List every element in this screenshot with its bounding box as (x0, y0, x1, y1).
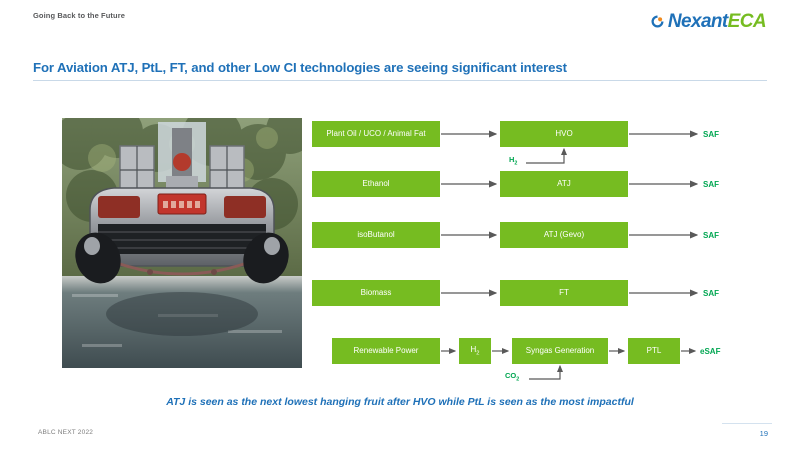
footer-event-label: ABLC NEXT 2022 (38, 429, 93, 436)
feedlabel-h2-hvo: H2 (509, 155, 517, 167)
node-process-hvo[interactable]: HVO (500, 121, 628, 147)
endlabel-esaf-ptl: eSAF (700, 347, 720, 356)
slide: Going Back to the Future NexantECA For A… (0, 0, 800, 450)
node-process-ptl[interactable]: PTL (628, 338, 680, 364)
endlabel-saf-atj-gevo: SAF (703, 231, 719, 240)
endlabel-saf-atj: SAF (703, 180, 719, 189)
footer-divider (722, 423, 772, 424)
node-feedstock-biomass[interactable]: Biomass (312, 280, 440, 306)
feedlabel-co2-text: CO (505, 371, 516, 380)
page-number: 19 (760, 429, 768, 438)
process-flow-diagram: Plant Oil / UCO / Animal Fat HVO SAF H2 … (0, 0, 800, 450)
node-process-syngas-generation[interactable]: Syngas Generation (512, 338, 608, 364)
node-process-atj[interactable]: ATJ (500, 171, 628, 197)
node-feedstock-hvo[interactable]: Plant Oil / UCO / Animal Fat (312, 121, 440, 147)
node-intermediate-h2-text: H2 (471, 346, 480, 357)
node-feedstock-renewable-power[interactable]: Renewable Power (332, 338, 440, 364)
slide-caption: ATJ is seen as the next lowest hanging f… (0, 396, 800, 408)
node-process-atj-gevo[interactable]: ATJ (Gevo) (500, 222, 628, 248)
feedlabel-h2-hvo-sub: 2 (514, 161, 517, 167)
node-process-ft[interactable]: FT (500, 280, 628, 306)
feedlabel-co2-syngas: CO2 (505, 371, 519, 383)
endlabel-saf-ft: SAF (703, 289, 719, 298)
node-h2-sub: 2 (476, 350, 479, 356)
node-intermediate-h2[interactable]: H2 (459, 338, 491, 364)
node-feedstock-isobutanol[interactable]: isoButanol (312, 222, 440, 248)
endlabel-saf-hvo: SAF (703, 130, 719, 139)
node-feedstock-ethanol[interactable]: Ethanol (312, 171, 440, 197)
feedlabel-co2-sub: 2 (516, 377, 519, 383)
